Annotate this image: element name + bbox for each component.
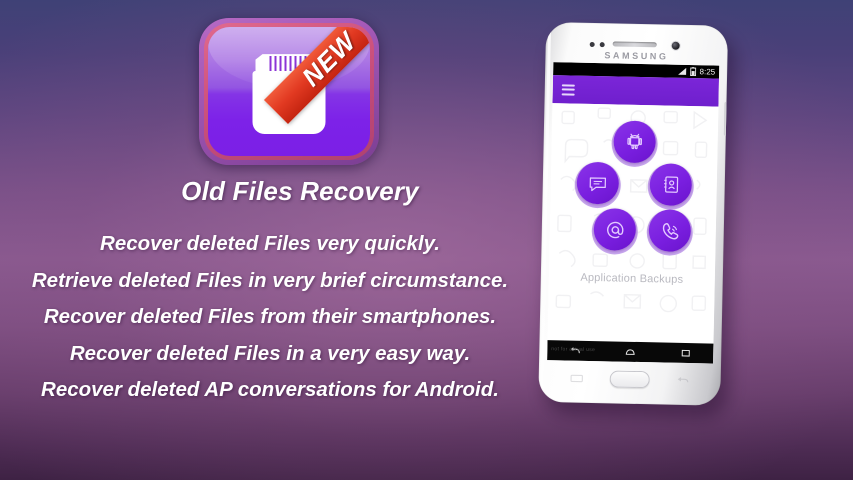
phone-brand-label: SAMSUNG	[545, 49, 727, 63]
signal-icon	[679, 67, 688, 75]
status-bar-time: 8:25	[699, 68, 715, 76]
feature-list: Recover deleted Files very quickly. Retr…	[0, 232, 540, 415]
contacts-book-icon	[661, 174, 681, 194]
feature-line: Retrieve deleted Files in very brief cir…	[0, 269, 540, 293]
phone-screen: 8:25	[547, 62, 719, 363]
feature-line: Recover deleted Files in a very easy way…	[0, 342, 540, 366]
home-icon[interactable]	[624, 346, 638, 358]
app-home-screen: Application Backups	[548, 103, 719, 343]
feature-line: Recover deleted AP conversations for And…	[0, 378, 540, 402]
app-bar	[552, 75, 719, 106]
app-icon: NEW	[199, 18, 379, 165]
hamburger-menu-icon[interactable]	[562, 84, 575, 95]
at-sign-icon	[604, 219, 625, 240]
android-robot-icon	[624, 132, 644, 152]
page-title: Old Files Recovery	[0, 176, 600, 207]
home-button[interactable]	[610, 370, 650, 388]
feature-line: Recover deleted Files very quickly.	[0, 232, 540, 256]
battery-icon	[690, 67, 696, 76]
proximity-sensor-icon	[590, 42, 595, 47]
phone-call-icon	[659, 220, 680, 241]
recents-capacitive-key[interactable]	[570, 373, 584, 382]
sd-card-body	[253, 71, 326, 134]
phone-mockup: SAMSUNG 8:25	[538, 22, 742, 422]
recents-icon[interactable]	[679, 347, 692, 359]
nav-watermark: not for actual use	[551, 346, 595, 353]
promo-banner: NEW Old Files Recovery Recover deleted F…	[0, 0, 853, 480]
front-camera-icon	[672, 42, 680, 50]
app-icon-face	[208, 27, 370, 156]
chat-bubble-icon	[588, 173, 608, 193]
sd-card-icon	[253, 54, 326, 134]
feature-line: Recover deleted Files from their smartph…	[0, 305, 540, 329]
sd-card-pins	[270, 56, 322, 72]
back-capacitive-key[interactable]	[676, 375, 690, 384]
phone-chin	[546, 360, 713, 397]
light-sensor-icon	[600, 42, 605, 47]
earpiece-speaker	[613, 41, 657, 47]
